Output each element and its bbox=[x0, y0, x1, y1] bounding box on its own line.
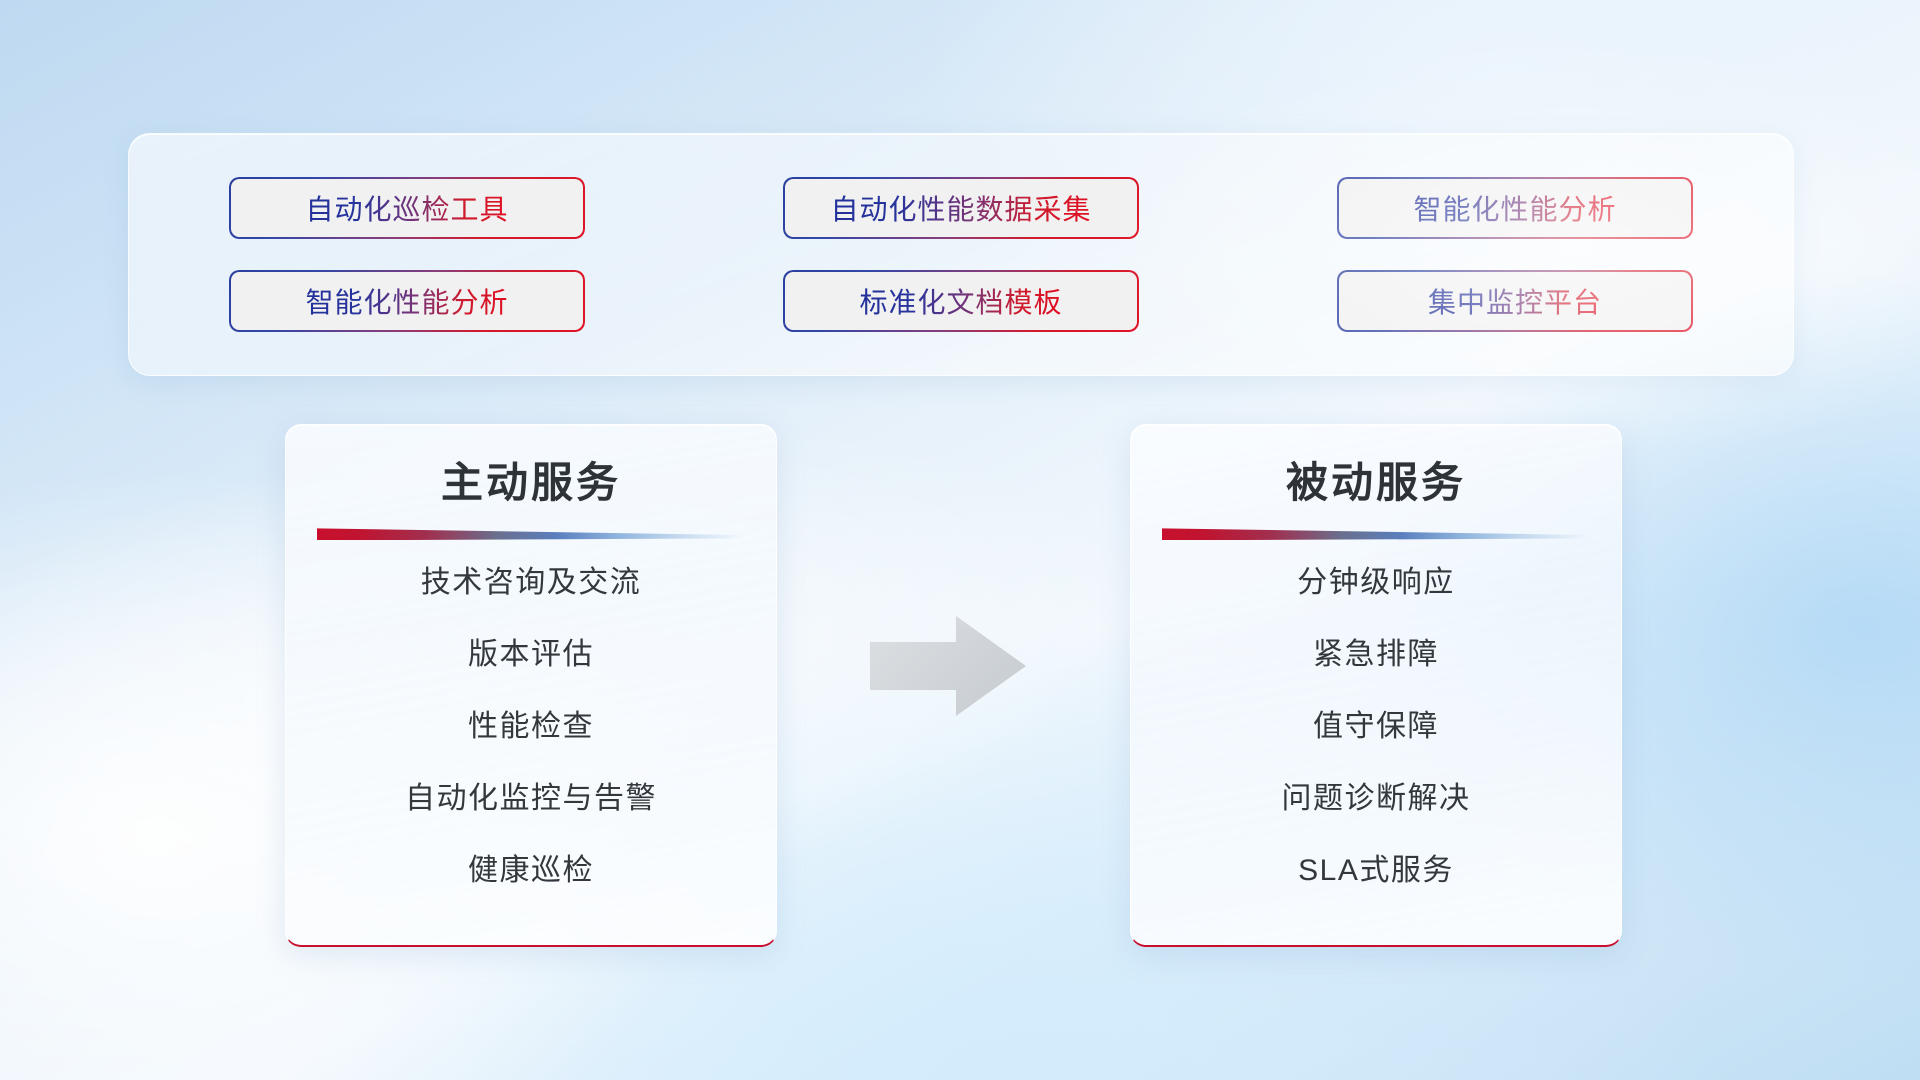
tag-label: 智能化性能分析 bbox=[1413, 188, 1616, 228]
tag-label: 自动化性能数据采集 bbox=[830, 188, 1091, 228]
tag-button-standardized-document-template[interactable]: 标准化文档模板 bbox=[783, 270, 1139, 332]
list-item: 版本评估 bbox=[468, 640, 594, 670]
tag-label: 标准化文档模板 bbox=[859, 281, 1062, 321]
tag-button-centralized-monitoring-platform[interactable]: 集中监控平台 bbox=[1337, 270, 1693, 332]
service-card-proactive: 主动服务 技术咨询及交流 版本评估 性能检查 自动化监控与告警 健康巡检 bbox=[285, 424, 777, 947]
tag-button-intelligent-performance-analysis-1[interactable]: 智能化性能分析 bbox=[1337, 177, 1693, 239]
tag-label: 自动化巡检工具 bbox=[305, 188, 508, 228]
tag-label: 集中监控平台 bbox=[1428, 281, 1602, 321]
tag-row-1: 自动化巡检工具 自动化性能数据采集 智能化性能分析 bbox=[229, 177, 1693, 239]
list-item: SLA式服务 bbox=[1298, 856, 1454, 886]
list-item: 性能检查 bbox=[468, 712, 594, 742]
card-divider bbox=[317, 526, 745, 540]
list-item: 分钟级响应 bbox=[1297, 568, 1455, 598]
tag-label: 智能化性能分析 bbox=[305, 281, 508, 321]
card-title: 被动服务 bbox=[1286, 458, 1466, 508]
arrow-right-icon bbox=[868, 612, 1028, 720]
tag-button-intelligent-performance-analysis-2[interactable]: 智能化性能分析 bbox=[229, 270, 585, 332]
card-item-list: 技术咨询及交流 版本评估 性能检查 自动化监控与告警 健康巡检 bbox=[286, 568, 776, 886]
capability-tag-panel: 自动化巡检工具 自动化性能数据采集 智能化性能分析 智能化性能分析 标准化文档模… bbox=[128, 133, 1794, 376]
list-item: 技术咨询及交流 bbox=[421, 568, 642, 598]
list-item: 健康巡检 bbox=[468, 856, 594, 886]
list-item: 自动化监控与告警 bbox=[405, 784, 657, 814]
card-title: 主动服务 bbox=[441, 458, 621, 508]
card-divider bbox=[1162, 526, 1590, 540]
tag-button-automation-performance-data-collection[interactable]: 自动化性能数据采集 bbox=[783, 177, 1139, 239]
diagram-canvas: 自动化巡检工具 自动化性能数据采集 智能化性能分析 智能化性能分析 标准化文档模… bbox=[0, 0, 1920, 1080]
list-item: 值守保障 bbox=[1313, 712, 1439, 742]
tag-button-automation-inspection-tool[interactable]: 自动化巡检工具 bbox=[229, 177, 585, 239]
divider-wedge bbox=[317, 526, 745, 540]
card-item-list: 分钟级响应 紧急排障 值守保障 问题诊断解决 SLA式服务 bbox=[1131, 568, 1621, 886]
list-item: 问题诊断解决 bbox=[1282, 784, 1471, 814]
service-card-reactive: 被动服务 分钟级响应 紧急排障 值守保障 问题诊断解决 SLA式服务 bbox=[1130, 424, 1622, 947]
list-item: 紧急排障 bbox=[1313, 640, 1439, 670]
tag-row-2: 智能化性能分析 标准化文档模板 集中监控平台 bbox=[229, 270, 1693, 332]
divider-wedge bbox=[1162, 526, 1590, 540]
